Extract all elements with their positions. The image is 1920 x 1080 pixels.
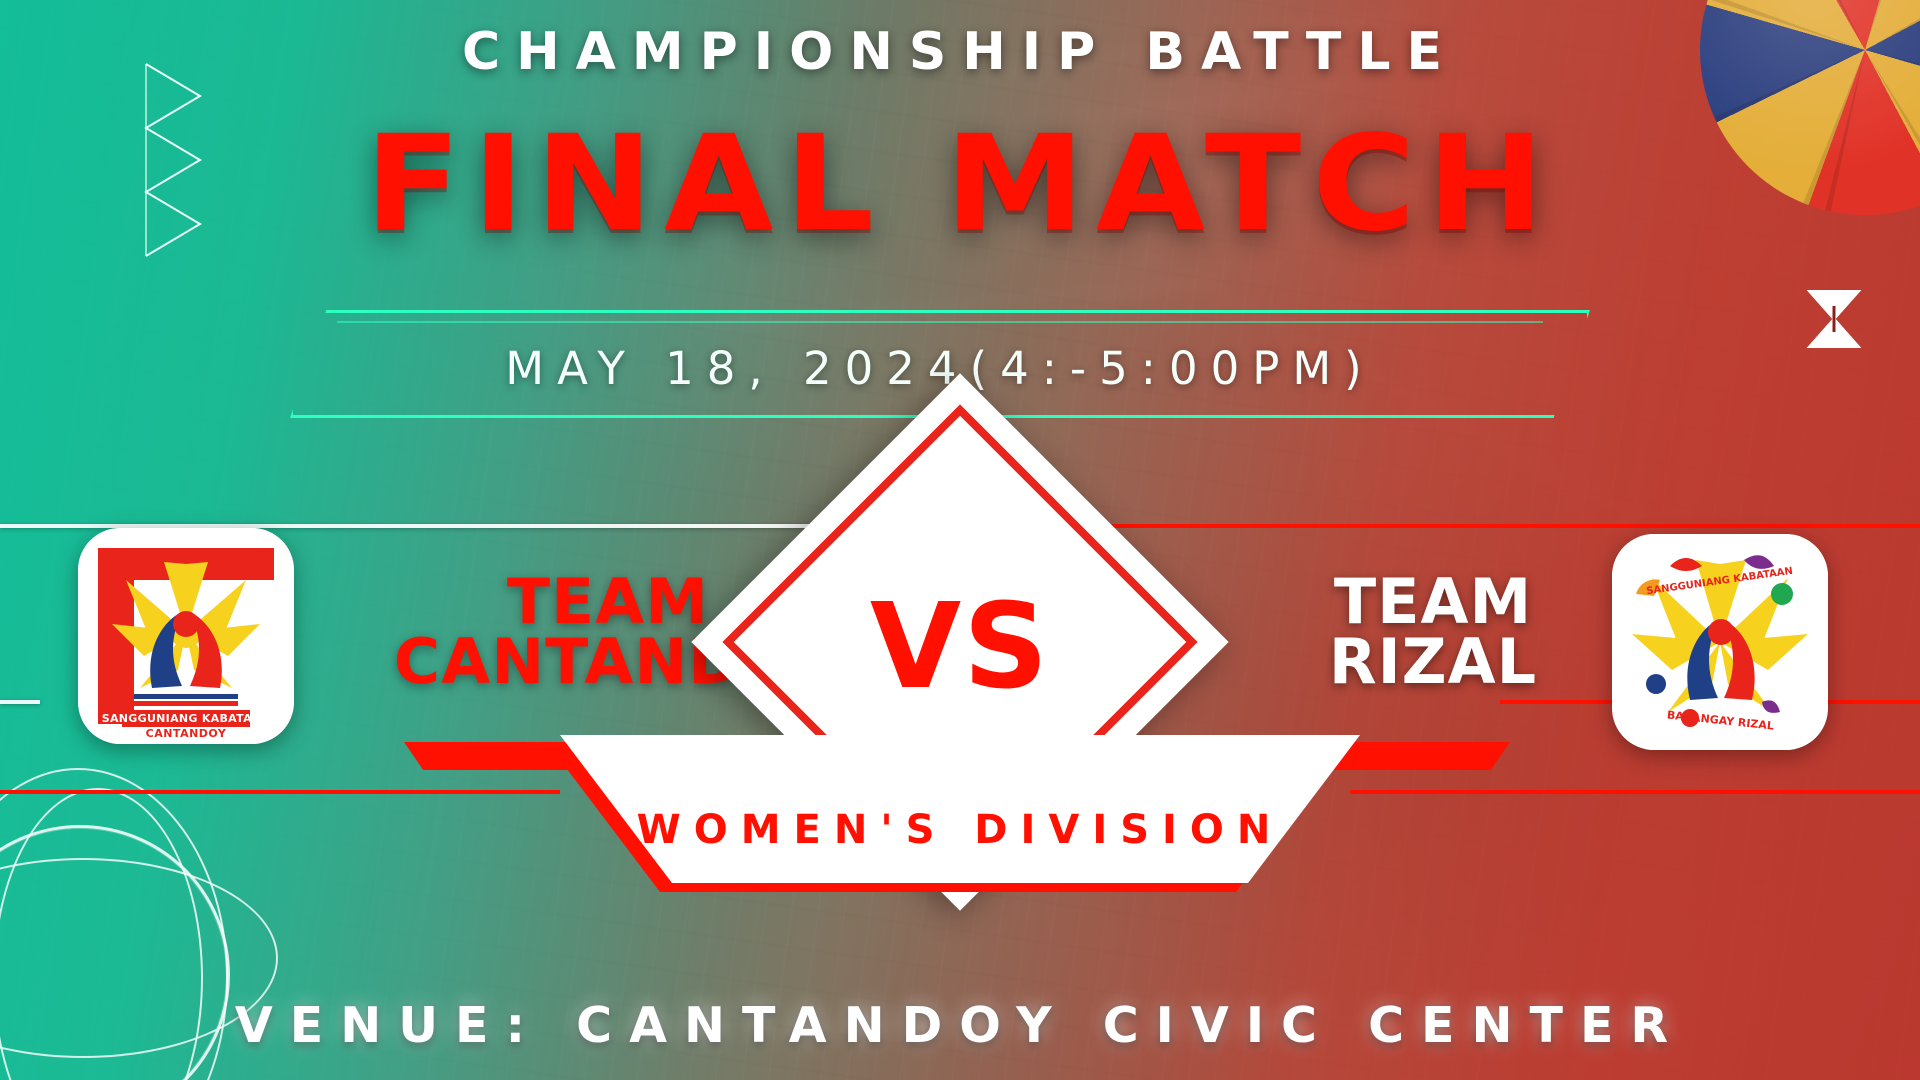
date-banner-accent-line xyxy=(337,321,1543,323)
team-right-name: TEAM RIZAL xyxy=(1268,572,1598,691)
divider-line-right-bottom xyxy=(1350,790,1920,794)
svg-text:CANTANDOY: CANTANDOY xyxy=(146,727,227,740)
division-banner: WOMEN'S DIVISION xyxy=(560,735,1360,883)
event-poster: CHAMPIONSHIP BATTLE FINAL MATCH MAY 18, … xyxy=(0,0,1920,1080)
svg-text:SANGGUNIANG KABATAAN: SANGGUNIANG KABATAAN xyxy=(102,712,270,725)
date-time-text: MAY 18, 2024(4:-5:00PM) xyxy=(505,334,1374,395)
hourglass-icon xyxy=(1805,288,1863,350)
sk-cantandoy-logo: SANGGUNIANG KABATAAN CANTANDOY xyxy=(78,528,294,744)
divider-line-right-top xyxy=(1070,524,1920,528)
divider-line-left-stub xyxy=(0,700,40,704)
division-label: WOMEN'S DIVISION xyxy=(637,807,1284,883)
page-title: FINAL MATCH xyxy=(0,118,1920,250)
divider-line-left-bottom xyxy=(0,790,560,794)
venue-label: VENUE: CANTANDOY CIVIC CENTER xyxy=(0,997,1920,1054)
page-title-kicker: CHAMPIONSHIP BATTLE xyxy=(0,22,1920,82)
sk-rizal-logo: SANGGUNIANG KABATAAN BARANGAY RIZAL xyxy=(1612,534,1828,750)
